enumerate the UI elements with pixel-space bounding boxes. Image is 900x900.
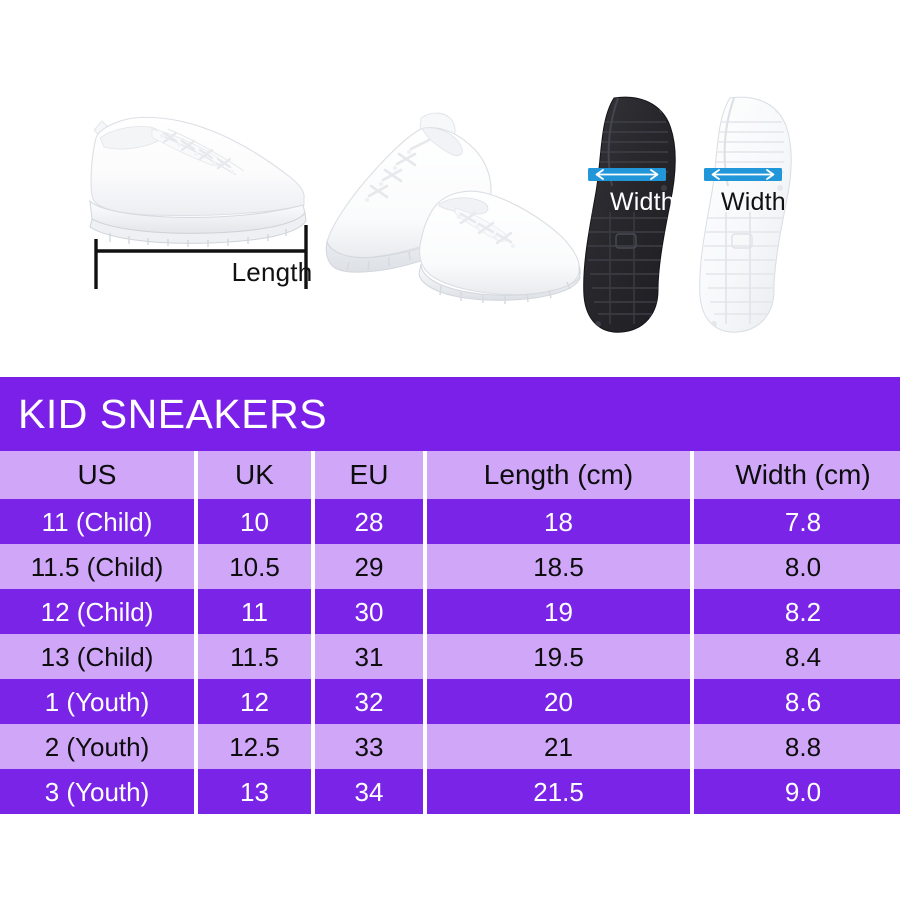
cell-uk: 12.5 xyxy=(198,724,311,769)
cell-length: 18.5 xyxy=(427,544,690,589)
table-header: US UK EU Length (cm) Width (cm) xyxy=(0,451,900,499)
table-body: 11 (Child) 10 28 18 7.8 11.5 (Child) 10.… xyxy=(0,499,900,814)
column-header-width: Width (cm) xyxy=(694,451,900,499)
cell-eu: 28 xyxy=(315,499,423,544)
cell-length: 21.5 xyxy=(427,769,690,814)
cell-eu: 30 xyxy=(315,589,423,634)
width-label-dark-sole: Width xyxy=(610,188,675,217)
cell-width: 9.0 xyxy=(694,769,900,814)
width-arrow-light-icon xyxy=(704,168,782,181)
cell-eu: 32 xyxy=(315,679,423,724)
cell-length: 19.5 xyxy=(427,634,690,679)
cell-width: 8.6 xyxy=(694,679,900,724)
cell-uk: 10 xyxy=(198,499,311,544)
table-row: 3 (Youth) 13 34 21.5 9.0 xyxy=(0,769,900,814)
column-header-us: US xyxy=(0,451,194,499)
table-row: 11.5 (Child) 10.5 29 18.5 8.0 xyxy=(0,544,900,589)
sneaker-pair-figure xyxy=(325,100,590,325)
cell-length: 19 xyxy=(427,589,690,634)
cell-eu: 33 xyxy=(315,724,423,769)
cell-uk: 11.5 xyxy=(198,634,311,679)
cell-us: 11 (Child) xyxy=(0,499,194,544)
cell-width: 8.0 xyxy=(694,544,900,589)
table-row: 12 (Child) 11 30 19 8.2 xyxy=(0,589,900,634)
column-header-uk: UK xyxy=(198,451,311,499)
cell-eu: 29 xyxy=(315,544,423,589)
cell-us: 2 (Youth) xyxy=(0,724,194,769)
product-photo-band: Length xyxy=(0,0,900,377)
page-title: KID SNEAKERS xyxy=(0,394,327,435)
cell-uk: 12 xyxy=(198,679,311,724)
column-header-length: Length (cm) xyxy=(427,451,690,499)
cell-width: 8.2 xyxy=(694,589,900,634)
sneaker-pair-icon xyxy=(325,100,590,325)
cell-us: 1 (Youth) xyxy=(0,679,194,724)
size-chart-table: US UK EU Length (cm) Width (cm) 11 (Chil… xyxy=(0,451,900,814)
cell-eu: 31 xyxy=(315,634,423,679)
cell-us: 3 (Youth) xyxy=(0,769,194,814)
table-row: 2 (Youth) 12.5 33 21 8.8 xyxy=(0,724,900,769)
cell-length: 18 xyxy=(427,499,690,544)
width-label-light-sole: Width xyxy=(721,188,786,217)
table-header-row: US UK EU Length (cm) Width (cm) xyxy=(0,451,900,499)
cell-length: 20 xyxy=(427,679,690,724)
cell-us: 12 (Child) xyxy=(0,589,194,634)
cell-uk: 13 xyxy=(198,769,311,814)
cell-uk: 10.5 xyxy=(198,544,311,589)
column-header-eu: EU xyxy=(315,451,423,499)
table-row: 13 (Child) 11.5 31 19.5 8.4 xyxy=(0,634,900,679)
table-row: 1 (Youth) 12 32 20 8.6 xyxy=(0,679,900,724)
cell-us: 11.5 (Child) xyxy=(0,544,194,589)
cell-width: 7.8 xyxy=(694,499,900,544)
shoe-soles-figure: Width Width xyxy=(578,92,823,340)
table-row: 11 (Child) 10 28 18 7.8 xyxy=(0,499,900,544)
cell-eu: 34 xyxy=(315,769,423,814)
cell-width: 8.4 xyxy=(694,634,900,679)
width-arrow-dark-icon xyxy=(588,168,666,181)
side-view-shoe-figure: Length xyxy=(72,105,322,295)
cell-us: 13 (Child) xyxy=(0,634,194,679)
cell-uk: 11 xyxy=(198,589,311,634)
cell-width: 8.8 xyxy=(694,724,900,769)
size-chart-section: KID SNEAKERS US UK EU Length (cm) Width … xyxy=(0,377,900,814)
chart-title-bar: KID SNEAKERS xyxy=(0,377,900,451)
cell-length: 21 xyxy=(427,724,690,769)
